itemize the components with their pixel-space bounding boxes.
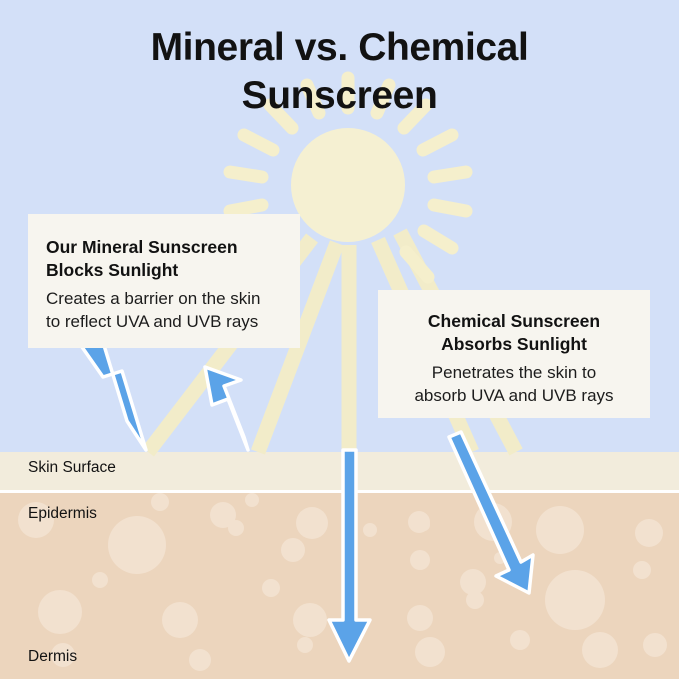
callout-chemical-heading: Chemical Sunscreen Absorbs Sunlight	[396, 310, 632, 356]
callout-chemical-body: Penetrates the skin to absorb UVA and UV…	[396, 361, 632, 407]
skin-surface-divider	[0, 490, 679, 493]
callout-mineral-sunscreen: Our Mineral Sunscreen Blocks Sunlight Cr…	[28, 214, 300, 348]
infographic-canvas: Mineral vs. Chemical Sunscreen Our Miner…	[0, 0, 679, 679]
page-title: Mineral vs. Chemical Sunscreen	[0, 24, 679, 120]
layer-label-epidermis: Epidermis	[28, 505, 97, 523]
sun-icon	[291, 128, 405, 242]
callout-mineral-heading: Our Mineral Sunscreen Blocks Sunlight	[46, 236, 282, 282]
callout-mineral-body: Creates a barrier on the skin to reflect…	[46, 287, 282, 333]
layer-label-dermis: Dermis	[28, 648, 77, 666]
layer-label-skin-surface: Skin Surface	[28, 459, 116, 477]
callout-chemical-sunscreen: Chemical Sunscreen Absorbs Sunlight Pene…	[378, 290, 650, 418]
